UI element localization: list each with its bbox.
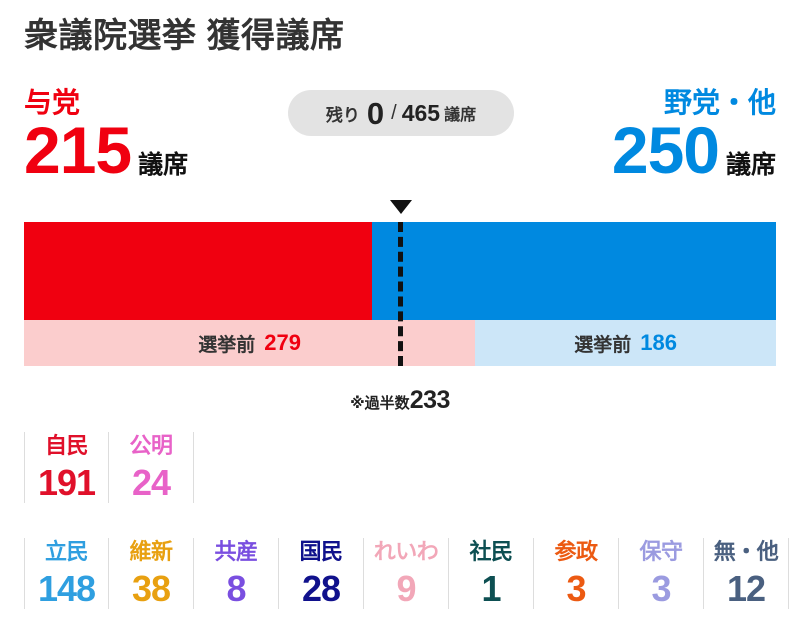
party-seats: 28 [281,568,361,609]
party-seats: 9 [366,568,446,609]
opposition-party-cell-2[interactable]: 共産8 [194,538,279,609]
ruling-bloc-summary: 与党 215 議席 [24,88,188,182]
party-name: 参政 [536,538,616,566]
majority-marker-triangle-icon [390,200,412,214]
party-seats: 3 [621,568,701,609]
ruling-bloc-seats: 215 [24,119,131,182]
previous-opposition-label-text: 選挙前 [574,330,631,357]
remaining-value: 0 [367,98,384,129]
majority-note-label: ※過半数 [350,395,410,412]
party-seats: 24 [111,462,191,503]
majority-note-value: 233 [410,386,450,414]
current-ruling-segment [24,222,372,320]
party-name: 共産 [196,538,276,566]
previous-opposition-seats: 186 [640,330,677,356]
opposition-bloc-summary: 野党・他 250 議席 [612,88,776,182]
opposition-bloc-unit: 議席 [726,145,776,181]
total-seats-value: 465 [402,100,440,127]
party-seats: 8 [196,568,276,609]
party-seats: 148 [27,568,106,609]
party-name: 無・他 [706,538,786,566]
current-opposition-segment [372,222,776,320]
party-seats: 3 [536,568,616,609]
opposition-party-cell-0[interactable]: 立民148 [24,538,109,609]
remaining-seats-badge: 残り 0 / 465 議席 [288,90,514,136]
party-name: 自民 [27,432,106,460]
party-seats: 12 [706,568,786,609]
ruling-bloc-unit: 議席 [138,145,188,181]
page-title: 衆議院選挙 獲得議席 [24,8,344,57]
opposition-party-cell-8[interactable]: 無・他12 [704,538,789,609]
opposition-bloc-seats: 250 [612,119,719,182]
opposition-party-cell-6[interactable]: 参政3 [534,538,619,609]
opposition-parties-row: 立民148維新38共産8国民28れいわ9社民1参政3保守3無・他12 [24,538,789,609]
previous-ruling-label: 選挙前 279 [24,320,475,366]
party-name: 保守 [621,538,701,566]
previous-ruling-label-text: 選挙前 [198,330,255,357]
opposition-party-cell-3[interactable]: 国民28 [279,538,364,609]
majority-threshold-line [398,222,403,366]
previous-ruling-seats: 279 [264,330,301,356]
party-name: 立民 [27,538,106,566]
party-seats: 38 [111,568,191,609]
seats-unit: 議席 [444,101,476,125]
pill-separator: / [391,102,397,125]
party-seats: 1 [451,568,531,609]
previous-opposition-label: 選挙前 186 [475,320,776,366]
opposition-party-cell-4[interactable]: れいわ9 [364,538,449,609]
party-name: 社民 [451,538,531,566]
party-name: 公明 [111,432,191,460]
remaining-label: 残り [326,101,360,126]
party-seats: 191 [27,462,106,503]
ruling-party-cell-1[interactable]: 公明24 [109,432,194,503]
party-name: 国民 [281,538,361,566]
opposition-party-cell-5[interactable]: 社民1 [449,538,534,609]
party-name: 維新 [111,538,191,566]
opposition-party-cell-7[interactable]: 保守3 [619,538,704,609]
party-name: れいわ [366,538,446,566]
opposition-party-cell-1[interactable]: 維新38 [109,538,194,609]
ruling-parties-row: 自民191公明24 [24,432,194,503]
ruling-party-cell-0[interactable]: 自民191 [24,432,109,503]
majority-note: ※過半数233 [0,386,800,415]
